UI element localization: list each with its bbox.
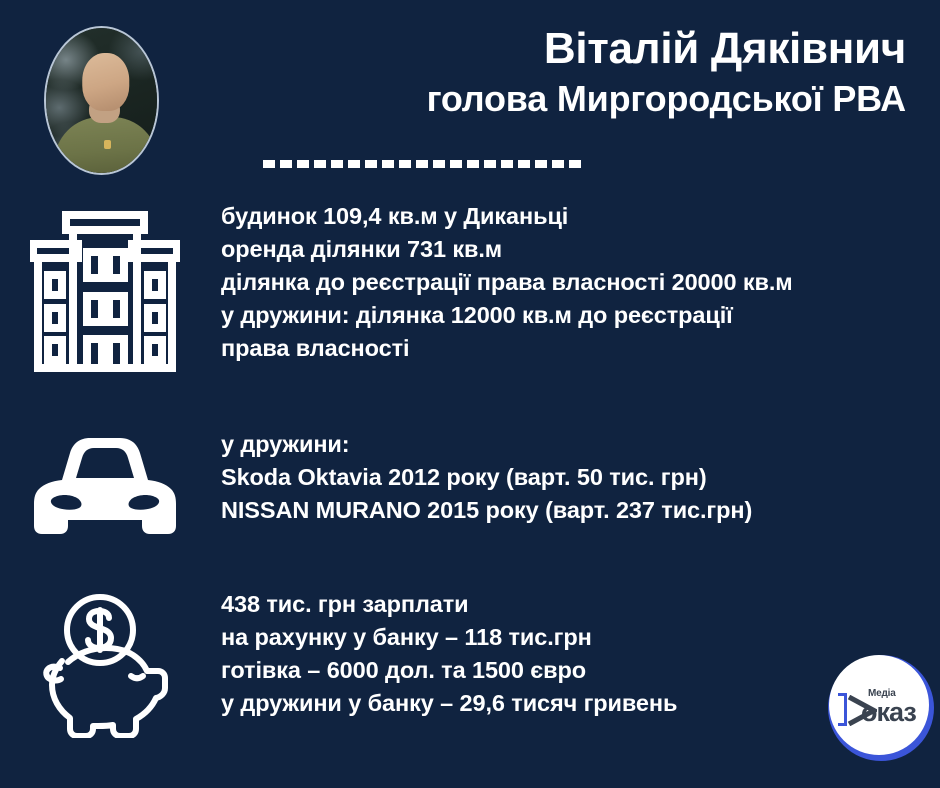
avatar [44, 26, 159, 175]
title-block: Віталій Дяківнич голова Миргородської РВ… [206, 22, 906, 122]
divider-dash [518, 160, 530, 168]
vehicles-text: у дружини: Skoda Oktavia 2012 року (варт… [221, 428, 933, 527]
logo-bracket-icon [838, 693, 847, 726]
divider-dash [399, 160, 411, 168]
logo-main-text: оказ [861, 697, 916, 728]
divider-dash [382, 160, 394, 168]
divider-dash [280, 160, 292, 168]
portrait-head [82, 53, 129, 111]
property-text: будинок 109,4 кв.м у Диканьці оренда діл… [221, 200, 933, 365]
divider-dash [314, 160, 326, 168]
property-line-3: ділянка до реєстрації права власності 20… [221, 266, 933, 299]
vehicles-line-3: NISSAN MURANO 2015 року (варт. 237 тис.г… [221, 494, 933, 527]
property-line-5: права власності [221, 332, 933, 365]
divider-dash [535, 160, 547, 168]
divider-dash [416, 160, 428, 168]
divider-dash [552, 160, 564, 168]
divider-dash [450, 160, 462, 168]
divider-dash [467, 160, 479, 168]
divider-dash [365, 160, 377, 168]
page-subtitle: голова Миргородської РВА [206, 76, 906, 122]
divider-dash [484, 160, 496, 168]
vehicles-line-2: Skoda Oktavia 2012 року (варт. 50 тис. г… [221, 461, 933, 494]
piggy-bank-icon [0, 590, 210, 738]
media-pokaz-logo[interactable]: Медіа оказ [828, 655, 934, 761]
divider-dash [297, 160, 309, 168]
property-line-4: у дружини: ділянка 12000 кв.м до реєстра… [221, 299, 933, 332]
building-icon [0, 208, 210, 376]
income-line-3: готівка – 6000 дол. та 1500 євро [221, 654, 933, 687]
dashed-divider [263, 160, 590, 168]
divider-dash [348, 160, 360, 168]
vehicles-line-1: у дружини: [221, 428, 933, 461]
page-title: Віталій Дяківнич [206, 22, 906, 76]
portrait-badge [104, 140, 111, 149]
divider-dash [433, 160, 445, 168]
property-line-1: будинок 109,4 кв.м у Диканьці [221, 200, 933, 233]
car-icon [0, 434, 210, 542]
income-text: 438 тис. грн зарплати на рахунку у банку… [221, 588, 933, 720]
divider-dash [331, 160, 343, 168]
infographic-poster: Віталій Дяківнич голова Миргородської РВ… [0, 0, 940, 788]
divider-dash [501, 160, 513, 168]
divider-dash [263, 160, 275, 168]
logo-inner: Медіа оказ [828, 655, 934, 761]
divider-dash [569, 160, 581, 168]
property-line-2: оренда ділянки 731 кв.м [221, 233, 933, 266]
income-line-1: 438 тис. грн зарплати [221, 588, 933, 621]
income-line-4: у дружини у банку – 29,6 тисяч гривень [221, 687, 933, 720]
income-line-2: на рахунку у банку – 118 тис.грн [221, 621, 933, 654]
